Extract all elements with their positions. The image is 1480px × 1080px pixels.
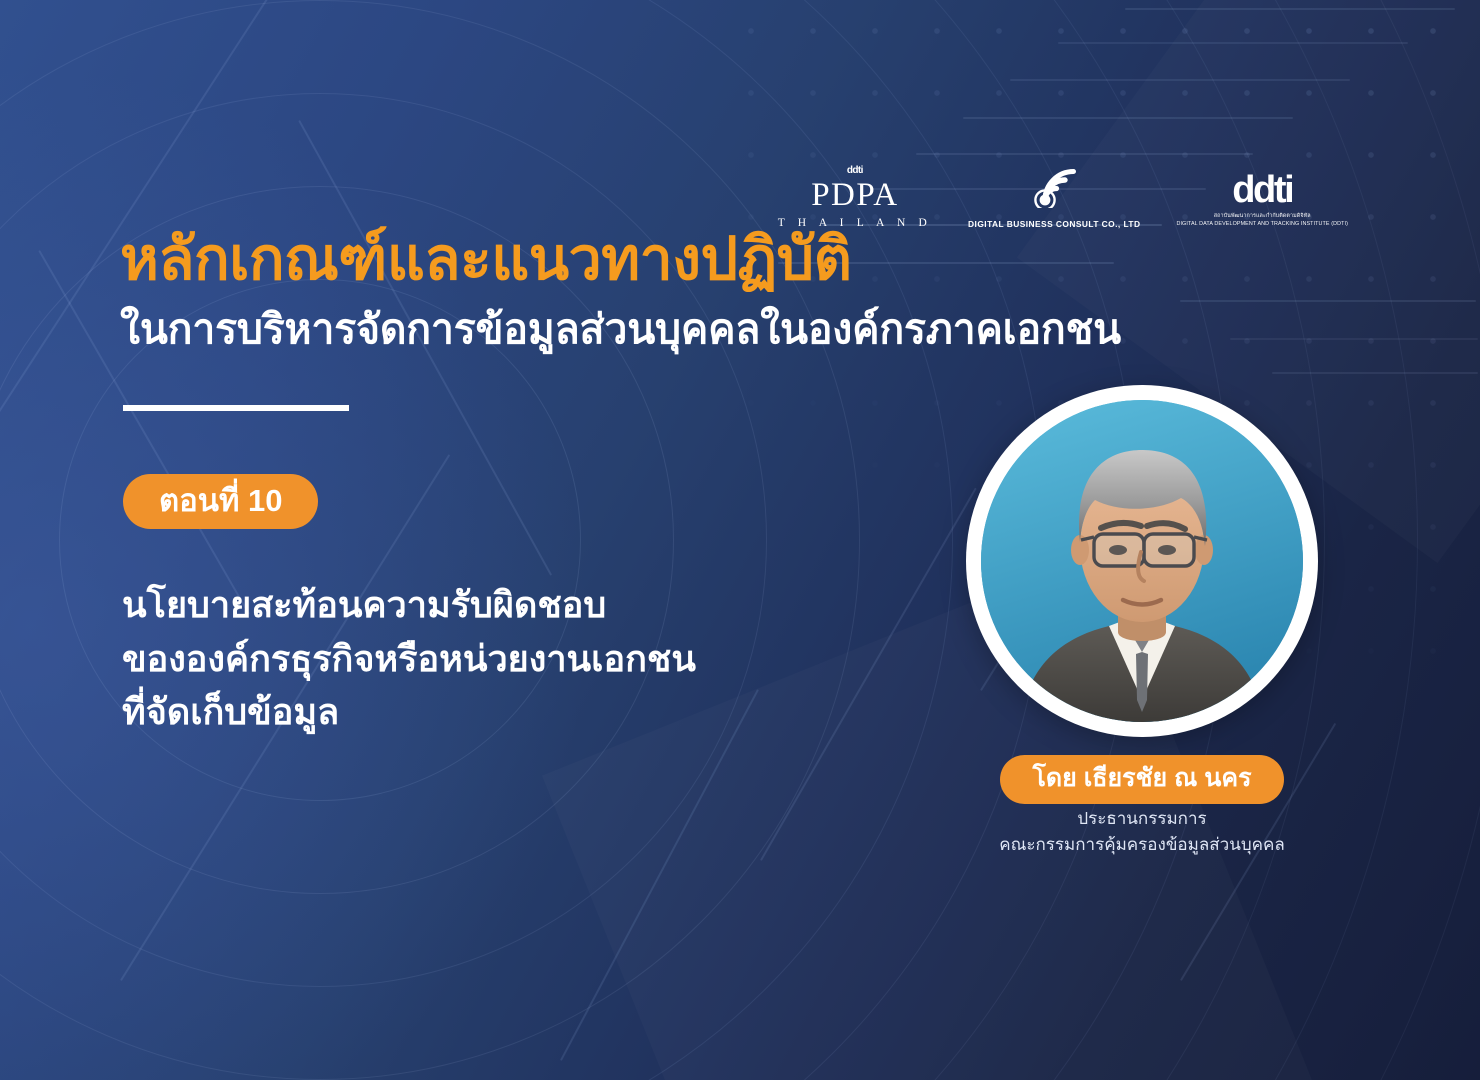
logo-pdpa-thailand: ddti PDPA T H A I L A N D bbox=[778, 179, 932, 229]
ddti-subtitle-th: สถาบันพัฒนาการและกำกับติดตามดิจิทัล bbox=[1176, 212, 1348, 221]
speaker-role: ประธานกรรมการ คณะกรรมการคุ้มครองข้อมูลส่… bbox=[940, 806, 1344, 859]
speaker-role-line-2: คณะกรรมการคุ้มครองข้อมูลส่วนบุคคล bbox=[940, 832, 1344, 858]
episode-description: นโยบายสะท้อนความรับผิดชอบ ขององค์กรธุรกิ… bbox=[122, 578, 696, 739]
pdpa-mark-text: PDPA bbox=[811, 177, 898, 213]
episode-badge[interactable]: ตอนที่ 10 bbox=[123, 474, 318, 529]
episode-description-line: นโยบายสะท้อนความรับผิดชอบ bbox=[122, 578, 696, 632]
title-line-1: หลักเกณฑ์และแนวทางปฏิบัติ bbox=[120, 228, 851, 291]
partner-logos: ddti PDPA T H A I L A N D DIGITAL BUSINE… bbox=[778, 166, 1348, 229]
dbc-subtitle: DIGITAL BUSINESS CONSULT CO., LTD bbox=[968, 219, 1140, 229]
ddti-subtitle: สถาบันพัฒนาการและกำกับติดตามดิจิทัล DIGI… bbox=[1176, 212, 1348, 229]
speaker-photo bbox=[981, 400, 1303, 722]
slide-canvas: ddti PDPA T H A I L A N D DIGITAL BUSINE… bbox=[0, 0, 1480, 1080]
title-divider bbox=[123, 405, 349, 411]
speaker-name-badge[interactable]: โดย เธียรชัย ณ นคร bbox=[1000, 755, 1284, 804]
wifi-signal-icon bbox=[1031, 166, 1077, 213]
ddti-wordmark: ddti bbox=[1232, 172, 1292, 208]
portrait-illustration bbox=[981, 400, 1303, 722]
speaker-avatar bbox=[966, 385, 1318, 737]
pdpa-superscript: ddti bbox=[847, 166, 863, 176]
episode-description-line: ที่จัดเก็บข้อมูล bbox=[122, 685, 696, 739]
pdpa-wordmark: ddti PDPA bbox=[811, 179, 898, 212]
title-line-2: ในการบริหารจัดการข้อมูลส่วนบุคคลในองค์กร… bbox=[120, 306, 1121, 353]
logo-ddti: ddti สถาบันพัฒนาการและกำกับติดตามดิจิทัล… bbox=[1176, 172, 1348, 229]
logo-digital-business-consult: DIGITAL BUSINESS CONSULT CO., LTD bbox=[968, 166, 1140, 229]
speaker-role-line-1: ประธานกรรมการ bbox=[940, 806, 1344, 832]
episode-description-line: ขององค์กรธุรกิจหรือหน่วยงานเอกชน bbox=[122, 632, 696, 686]
ddti-subtitle-en: DIGITAL DATA DEVELOPMENT AND TRACKING IN… bbox=[1176, 220, 1348, 229]
